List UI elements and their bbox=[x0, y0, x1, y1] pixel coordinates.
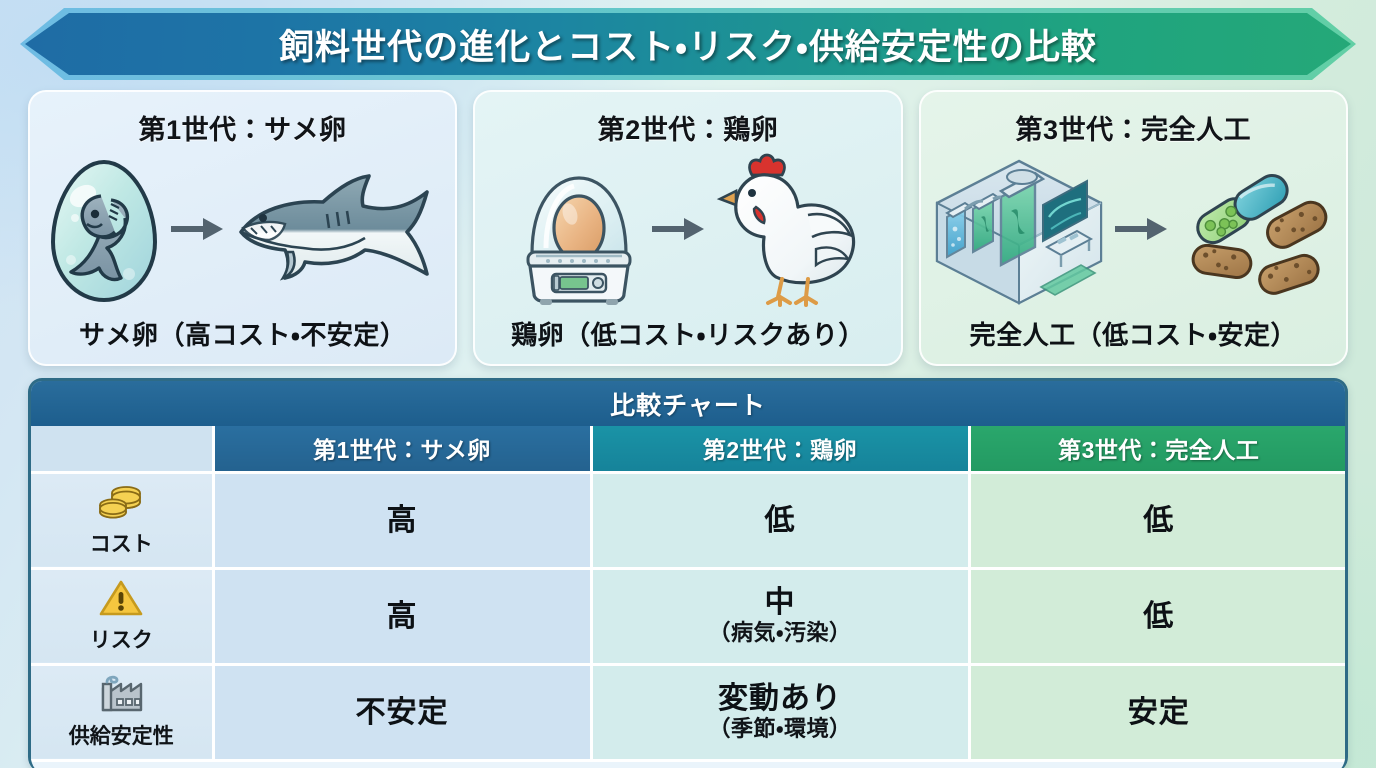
cell-main: 変動あり bbox=[601, 682, 960, 715]
bioreactor-lab-icon bbox=[931, 155, 1107, 307]
page-title: 飼料世代の進化とコスト・リスク・供給安定性の比較 bbox=[20, 8, 1356, 80]
column-header-gen1: 第1世代：サメ卵 bbox=[213, 426, 591, 472]
chicken-icon bbox=[712, 153, 862, 309]
card-3-caption: 完全人工（低コスト・安定） bbox=[970, 315, 1297, 352]
card-2-caption: 鶏卵（低コスト・リスクあり） bbox=[511, 315, 865, 352]
arrow-right-icon bbox=[650, 212, 706, 251]
cell-cost-gen1: 高 bbox=[213, 472, 591, 568]
cell-risk-gen1: 高 bbox=[213, 568, 591, 664]
card-3-figure bbox=[921, 147, 1346, 315]
cell-supply-gen2: 変動あり （季節・環境） bbox=[591, 664, 969, 760]
row-label-text: リスク bbox=[90, 624, 153, 654]
shark-icon bbox=[231, 166, 441, 296]
cell-main: 安定 bbox=[979, 696, 1340, 729]
warning-triangle-icon bbox=[98, 578, 144, 623]
card-1-caption: サメ卵（高コスト・不安定） bbox=[79, 315, 406, 352]
cell-risk-gen3: 低 bbox=[969, 568, 1347, 664]
cell-main: 低 bbox=[979, 504, 1340, 537]
cell-main: 低 bbox=[979, 600, 1340, 633]
arrow-right-icon bbox=[169, 212, 225, 251]
row-label-text: 供給安定性 bbox=[69, 720, 174, 750]
cell-main: 中 bbox=[601, 586, 960, 619]
cell-main: 不安定 bbox=[223, 696, 582, 729]
cell-main: 高 bbox=[223, 600, 582, 633]
cell-supply-gen3: 安定 bbox=[969, 664, 1347, 760]
factory-icon bbox=[95, 674, 147, 719]
cell-supply-gen1: 不安定 bbox=[213, 664, 591, 760]
generation-card-row: 第1世代：サメ卵 bbox=[28, 90, 1348, 366]
comparison-table: 第1世代：サメ卵 第2世代：鶏卵 第3世代：完全人工 bbox=[31, 426, 1347, 762]
cell-cost-gen2: 低 bbox=[591, 472, 969, 568]
column-header-gen3: 第3世代：完全人工 bbox=[969, 426, 1347, 472]
coins-icon bbox=[98, 482, 144, 527]
page-title-banner: 飼料世代の進化とコスト・リスク・供給安定性の比較 bbox=[20, 8, 1356, 80]
egg-incubator-icon bbox=[514, 156, 644, 306]
cell-sub: （季節・環境） bbox=[601, 716, 960, 741]
capsule-pellets-icon bbox=[1175, 161, 1335, 301]
row-label-text: コスト bbox=[90, 528, 153, 558]
card-2-title: 第2世代：鶏卵 bbox=[598, 108, 779, 147]
arrow-right-icon bbox=[1113, 212, 1169, 251]
cell-cost-gen3: 低 bbox=[969, 472, 1347, 568]
cell-risk-gen2: 中 （病気・汚染） bbox=[591, 568, 969, 664]
card-1-figure bbox=[30, 147, 455, 315]
cell-sub: （病気・汚染） bbox=[601, 620, 960, 645]
cell-main: 低 bbox=[601, 504, 960, 537]
generation-card-2[interactable]: 第2世代：鶏卵 bbox=[473, 90, 902, 366]
table-row: リスク 高 中 （病気・汚染） 低 bbox=[31, 568, 1347, 664]
card-1-title: 第1世代：サメ卵 bbox=[139, 108, 347, 147]
row-label-risk: リスク bbox=[31, 568, 213, 664]
shark-egg-embryo-icon bbox=[45, 156, 163, 306]
table-row: 供給安定性 不安定 変動あり （季節・環境） 安定 bbox=[31, 664, 1347, 760]
row-label-supply-stability: 供給安定性 bbox=[31, 664, 213, 760]
cell-main: 高 bbox=[223, 504, 582, 537]
card-3-title: 第3世代：完全人工 bbox=[1016, 108, 1252, 147]
card-2-figure bbox=[475, 147, 900, 315]
column-header-gen2: 第2世代：鶏卵 bbox=[591, 426, 969, 472]
generation-card-3[interactable]: 第3世代：完全人工 bbox=[919, 90, 1348, 366]
table-row: コスト 高 低 低 bbox=[31, 472, 1347, 568]
table-header-row: 第1世代：サメ卵 第2世代：鶏卵 第3世代：完全人工 bbox=[31, 426, 1347, 472]
row-label-cost: コスト bbox=[31, 472, 213, 568]
table-corner-cell bbox=[31, 426, 213, 472]
comparison-chart: 比較チャート 第1世代：サメ卵 第2世代：鶏卵 第3世代：完全人工 bbox=[28, 378, 1348, 768]
generation-card-1[interactable]: 第1世代：サメ卵 bbox=[28, 90, 457, 366]
comparison-chart-title: 比較チャート bbox=[31, 381, 1345, 426]
